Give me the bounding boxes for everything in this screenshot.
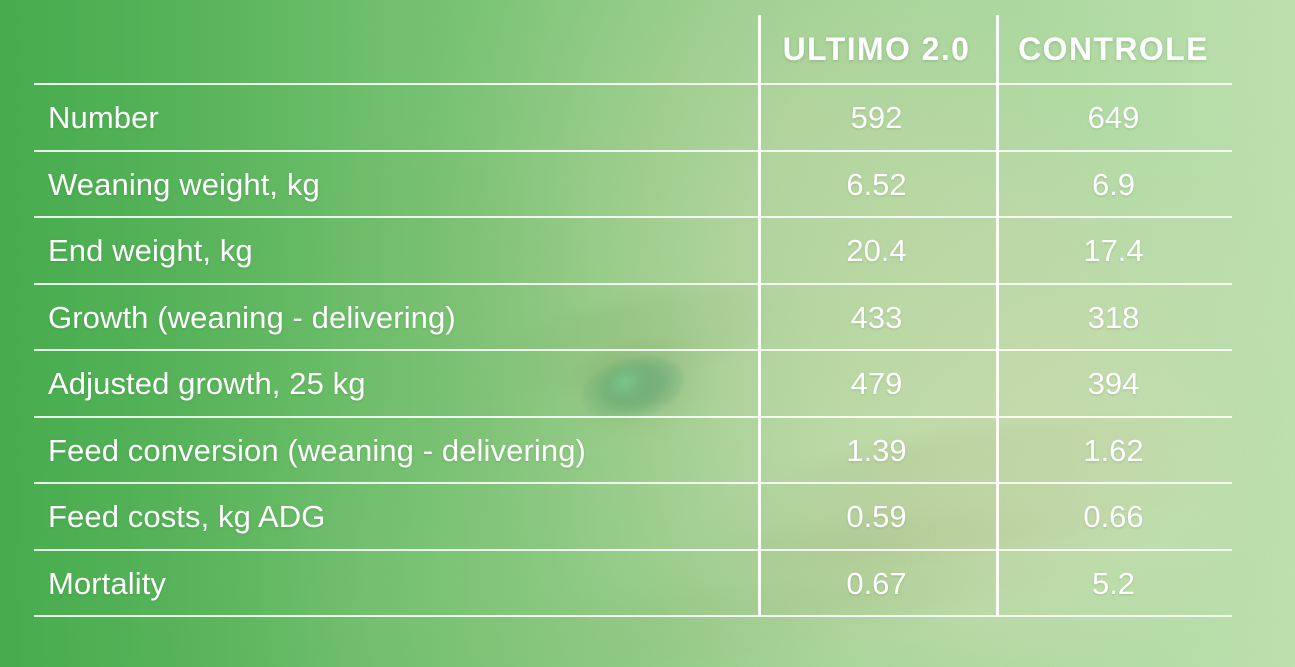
table-header-row: ULTIMO 2.0 CONTROLE [34,14,1232,85]
table-row: Weaning weight, kg 6.52 6.9 [34,152,1232,219]
cell-controle: 649 [995,100,1232,136]
cell-ultimo: 592 [758,100,995,136]
cell-controle: 17.4 [995,233,1232,269]
cell-controle: 6.9 [995,167,1232,203]
row-label: Adjusted growth, 25 kg [34,366,758,402]
row-label: Weaning weight, kg [34,167,758,203]
cell-ultimo: 433 [758,300,995,336]
table-row: Feed conversion (weaning - delivering) 1… [34,418,1232,485]
cell-ultimo: 6.52 [758,167,995,203]
cell-controle: 0.66 [995,499,1232,535]
cell-ultimo: 479 [758,366,995,402]
table-row: Mortality 0.67 5.2 [34,551,1232,618]
slide-canvas: ULTIMO 2.0 CONTROLE Number 592 649 Weani… [0,0,1295,667]
row-label: Feed conversion (weaning - delivering) [34,433,758,469]
cell-controle: 394 [995,366,1232,402]
table-row: End weight, kg 20.4 17.4 [34,218,1232,285]
cell-controle: 5.2 [995,566,1232,602]
row-label: End weight, kg [34,233,758,269]
column-header-ultimo: ULTIMO 2.0 [758,31,995,68]
row-label: Number [34,100,758,136]
cell-ultimo: 0.67 [758,566,995,602]
table-row: Growth (weaning - delivering) 433 318 [34,285,1232,352]
comparison-table: ULTIMO 2.0 CONTROLE Number 592 649 Weani… [34,14,1232,620]
row-label: Feed costs, kg ADG [34,499,758,535]
table-row: Number 592 649 [34,85,1232,152]
cell-ultimo: 20.4 [758,233,995,269]
row-label: Mortality [34,566,758,602]
cell-controle: 1.62 [995,433,1232,469]
cell-controle: 318 [995,300,1232,336]
row-label: Growth (weaning - delivering) [34,300,758,336]
table-row: Feed costs, kg ADG 0.59 0.66 [34,484,1232,551]
cell-ultimo: 1.39 [758,433,995,469]
table-row: Adjusted growth, 25 kg 479 394 [34,351,1232,418]
column-header-controle: CONTROLE [995,31,1232,68]
cell-ultimo: 0.59 [758,499,995,535]
